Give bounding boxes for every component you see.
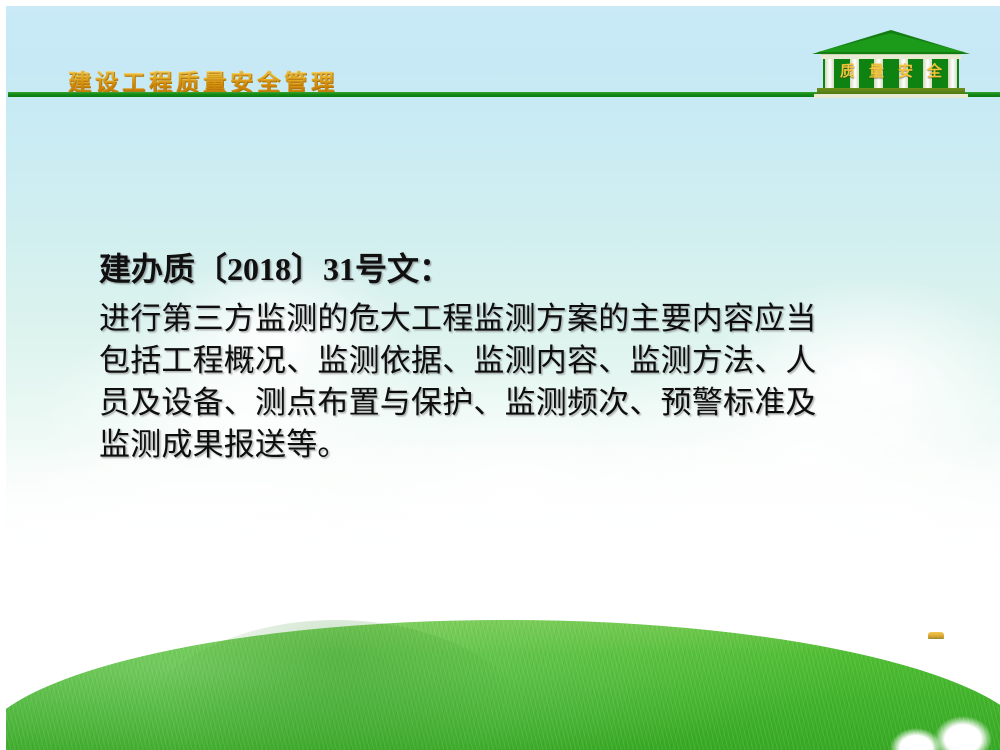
slide-root: 建设工程质量安全管理 建设工程质量安全管理 质量安全 建办质〔2018〕31号文… — [0, 0, 1000, 750]
logo-label: 质量安全 — [812, 60, 970, 81]
grass-hill-graphic — [6, 620, 1000, 750]
document-number-heading: 建办质〔2018〕31号文： — [99, 246, 899, 292]
content-block: 建办质〔2018〕31号文： 进行第三方监测的危大工程监测方案的主要内容应当 包… — [99, 246, 899, 466]
temple-pediment-highlight — [818, 33, 964, 52]
paragraph-line: 监测成果报送等。 — [99, 424, 899, 466]
paragraph-line: 包括工程概况、监测依据、监测内容、监测方法、人 — [99, 340, 899, 382]
temple-base-lower — [814, 94, 968, 98]
paragraph-line: 员及设备、测点布置与保护、监测频次、预警标准及 — [99, 382, 899, 424]
quality-safety-temple-logo: 质量安全 — [812, 30, 970, 100]
slide-canvas: 建设工程质量安全管理 建设工程质量安全管理 质量安全 建办质〔2018〕31号文… — [6, 6, 1000, 750]
hill-crest-accent-icon — [928, 632, 944, 639]
paragraph-line: 进行第三方监测的危大工程监测方案的主要内容应当 — [99, 298, 899, 340]
document-paragraph: 进行第三方监测的危大工程监测方案的主要内容应当 包括工程概况、监测依据、监测内容… — [99, 298, 899, 466]
